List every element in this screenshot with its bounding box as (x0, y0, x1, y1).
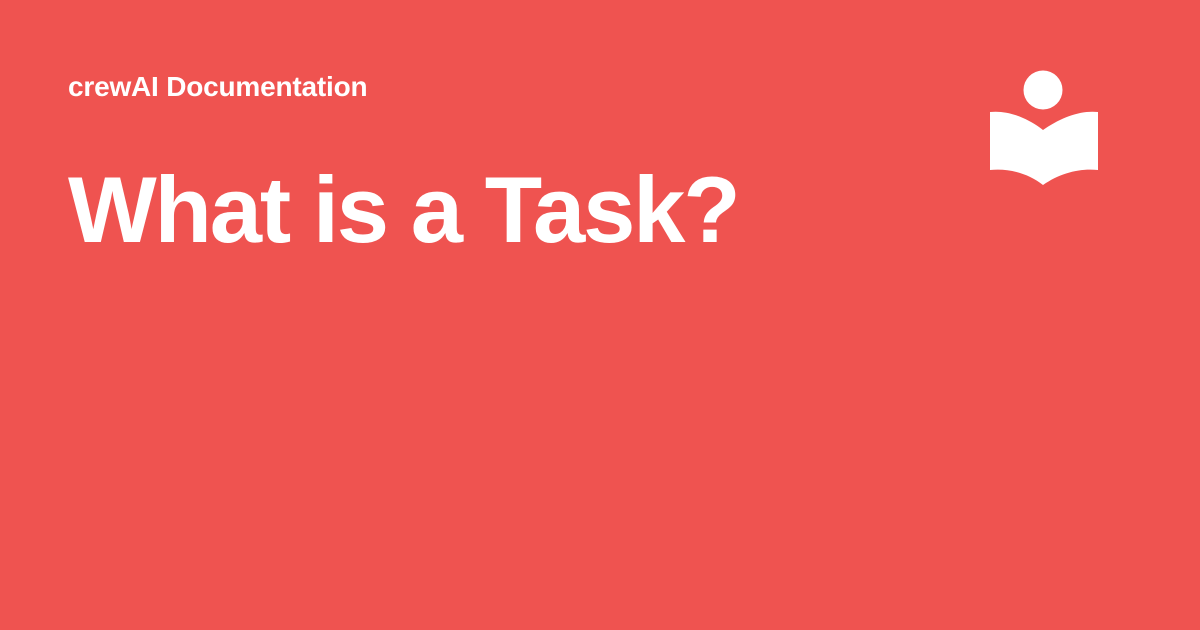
card-text-block: crewAI Documentation What is a Task? (68, 0, 948, 630)
site-label: crewAI Documentation (68, 70, 367, 104)
reader-book-icon (986, 66, 1102, 192)
og-card: crewAI Documentation What is a Task? (0, 0, 1200, 630)
page-title: What is a Task? (68, 158, 738, 262)
